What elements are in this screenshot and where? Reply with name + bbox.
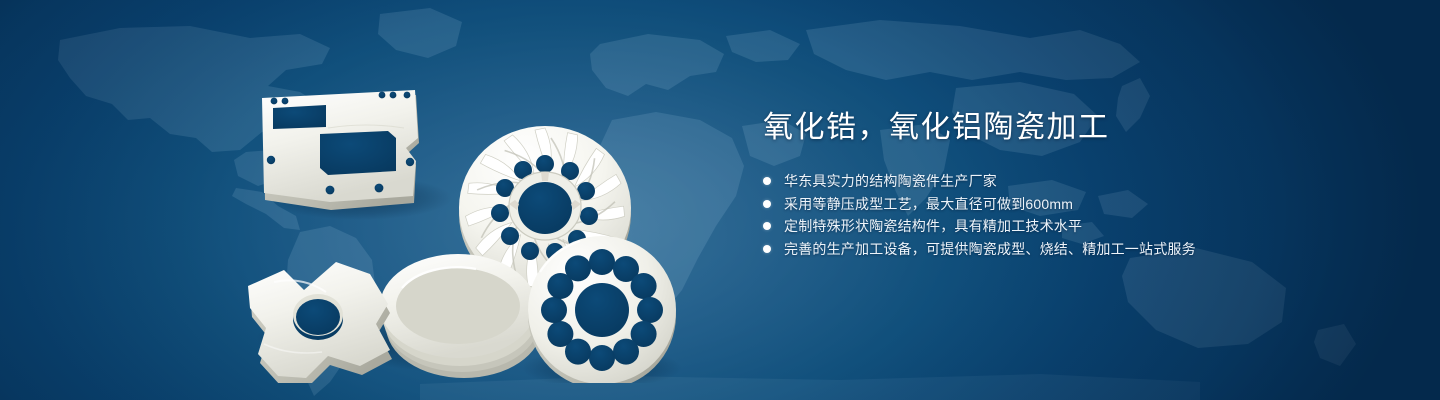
bullet-dot-icon — [763, 222, 771, 230]
feature-text: 华东具实力的结构陶瓷件生产厂家 — [784, 170, 997, 193]
ceramic-cross-shaped-part — [248, 262, 392, 383]
bullet-dot-icon — [763, 245, 771, 253]
ceramic-products-image — [230, 38, 710, 383]
feature-item-3: 定制特殊形状陶瓷结构件，具有精加工技术水平 — [763, 215, 1383, 238]
ceramic-machined-plate — [262, 90, 419, 210]
feature-item-2: 采用等静压成型工艺，最大直径可做到600mm — [763, 193, 1383, 216]
bullet-dot-icon — [763, 200, 771, 208]
promo-banner: 氧化锆，氧化铝陶瓷加工 华东具实力的结构陶瓷件生产厂家 采用等静压成型工艺，最大… — [0, 0, 1440, 400]
bullet-dot-icon — [763, 177, 771, 185]
banner-text-column: 氧化锆，氧化铝陶瓷加工 华东具实力的结构陶瓷件生产厂家 采用等静压成型工艺，最大… — [763, 108, 1383, 260]
banner-feature-list: 华东具实力的结构陶瓷件生产厂家 采用等静压成型工艺，最大直径可做到600mm 定… — [763, 170, 1383, 260]
ceramic-rings — [380, 254, 542, 378]
banner-headline: 氧化锆，氧化铝陶瓷加工 — [763, 108, 1383, 148]
feature-item-4: 完善的生产加工设备，可提供陶瓷成型、烧结、精加工一站式服务 — [763, 238, 1383, 261]
feature-text: 采用等静压成型工艺，最大直径可做到600mm — [784, 193, 1073, 216]
feature-text: 完善的生产加工设备，可提供陶瓷成型、烧结、精加工一站式服务 — [784, 238, 1196, 261]
ceramic-perforated-disc — [528, 236, 676, 383]
feature-text: 定制特殊形状陶瓷结构件，具有精加工技术水平 — [784, 215, 1082, 238]
feature-item-1: 华东具实力的结构陶瓷件生产厂家 — [763, 170, 1383, 193]
